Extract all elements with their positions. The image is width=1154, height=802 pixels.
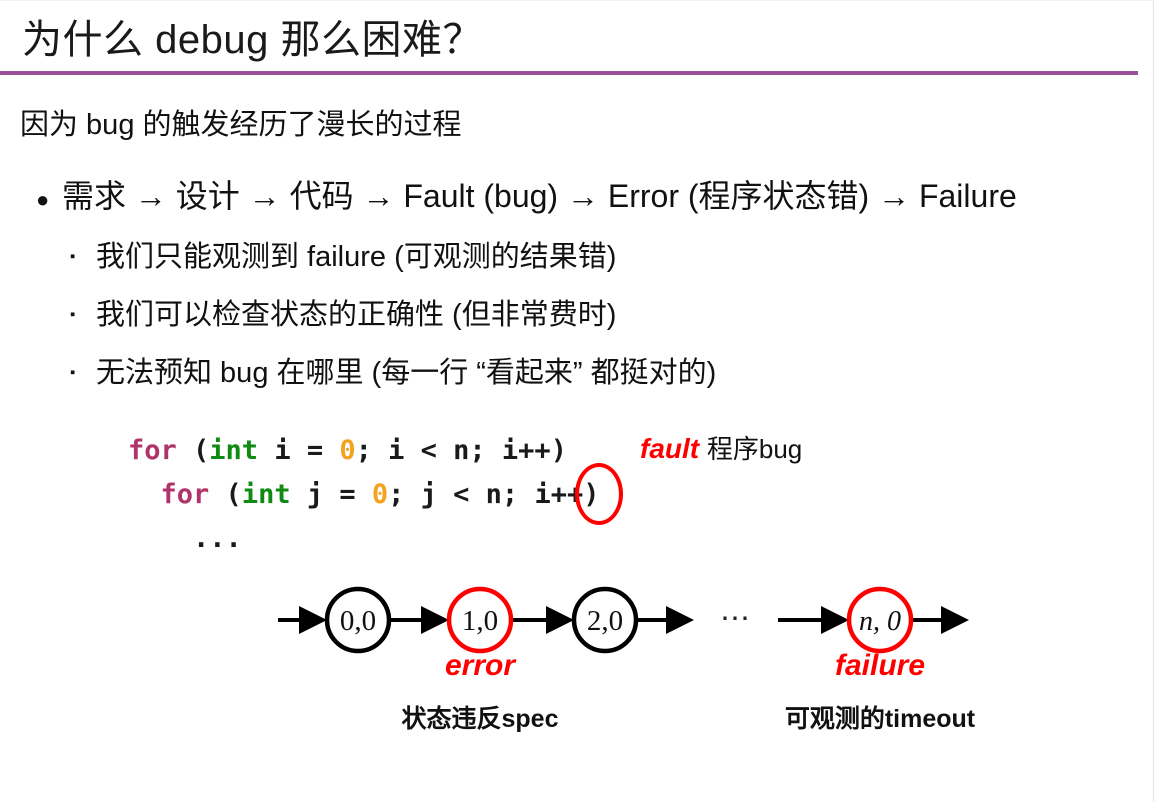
- ellipsis-glyph: ⋯: [720, 602, 750, 635]
- bullet-marker-square: ▪: [70, 307, 96, 322]
- state-label-text: n, 0: [859, 606, 901, 637]
- bullet-level2-1-text: 我们只能观测到 failure (可观测的结果错): [96, 233, 616, 275]
- code-token: int: [242, 479, 291, 510]
- code-token: (: [193, 435, 209, 466]
- code-token: int: [209, 435, 258, 466]
- code-token: 0: [339, 435, 355, 466]
- code-token: (: [226, 479, 242, 510]
- bullet-level2-1: ▪ 我们只能观测到 failure (可观测的结果错): [70, 233, 616, 275]
- state-label-text: 2,0: [587, 605, 623, 637]
- fault-label-zh: 程序bug: [707, 434, 802, 464]
- failure-label: failure: [790, 649, 970, 683]
- code-line: for (int j = 0; j < n; i++): [128, 473, 599, 517]
- fault-label: fault: [640, 433, 699, 464]
- code-token: ; j < n; i++): [388, 479, 599, 510]
- code-token: ...: [128, 523, 242, 554]
- bullet-marker-square: ▪: [70, 249, 96, 264]
- bullet-level2-3-text: 无法预知 bug 在哪里 (每一行 “看起来” 都挺对的): [96, 349, 716, 391]
- bullet-level2-3: ▪ 无法预知 bug 在哪里 (每一行 “看起来” 都挺对的): [70, 349, 716, 391]
- error-label: error: [390, 649, 570, 683]
- code-line: for (int i = 0; i < n; i++): [128, 429, 599, 473]
- error-label-zh: 状态违反spec: [360, 699, 600, 735]
- code-annotation: fault 程序bug: [640, 429, 802, 466]
- failure-label-zh: 可观测的timeout: [750, 699, 1010, 735]
- page-title: 为什么 debug 那么困难？: [22, 7, 483, 65]
- bullet-level2-2: ▪ 我们可以检查状态的正确性 (但非常费时): [70, 291, 616, 333]
- code-highlight-ellipse: [575, 463, 623, 525]
- bullet-level2-2-text: 我们可以检查状态的正确性 (但非常费时): [96, 291, 616, 333]
- bullet-level1-text: 需求 → 设计 → 代码 → Fault (bug) → Error (程序状态…: [62, 171, 1017, 217]
- bullet-marker-square: ▪: [70, 365, 96, 380]
- state-label-text: 0,0: [340, 605, 376, 637]
- bullet-level1: ● 需求 → 设计 → 代码 → Fault (bug) → Error (程序…: [36, 171, 1017, 217]
- code-token: 0: [372, 479, 388, 510]
- code-token: i =: [258, 435, 339, 466]
- code-token: j =: [291, 479, 372, 510]
- title-divider: [0, 71, 1138, 75]
- code-block: for (int i = 0; i < n; i++) for (int j =…: [128, 429, 599, 561]
- bullet-marker-round: ●: [36, 189, 62, 211]
- state-label-text: 1,0: [462, 605, 498, 637]
- lead-text: 因为 bug 的触发经历了漫长的过程: [20, 101, 462, 143]
- code-token: ; i < n; i++): [356, 435, 567, 466]
- code-token: for: [128, 479, 226, 510]
- code-line: ...: [128, 517, 599, 561]
- slide-canvas: 为什么 debug 那么困难？ 因为 bug 的触发经历了漫长的过程 ● 需求 …: [0, 0, 1154, 802]
- code-token: for: [128, 435, 193, 466]
